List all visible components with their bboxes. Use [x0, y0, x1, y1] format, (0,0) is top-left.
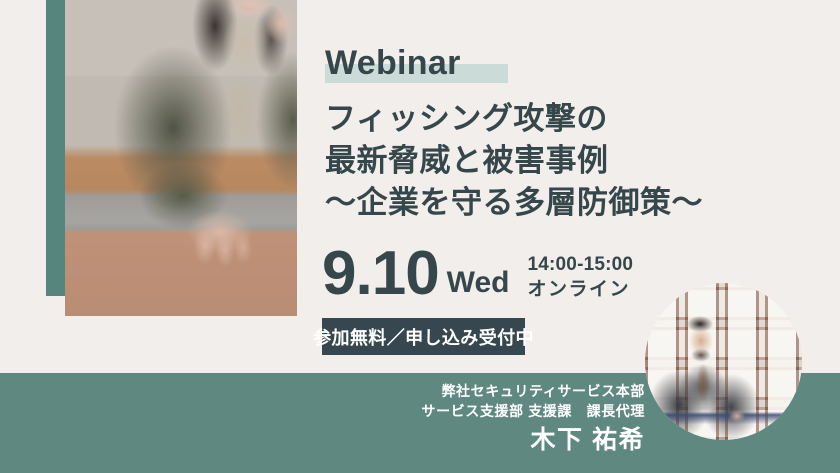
registration-badge-label: 参加無料／申し込み受付中	[313, 324, 534, 350]
schedule-row: 9.10 Wed 14:00-15:00 オンライン	[322, 243, 633, 305]
registration-badge[interactable]: 参加無料／申し込み受付中	[322, 318, 525, 355]
speaker-avatar-photo	[645, 283, 802, 440]
event-venue: オンライン	[527, 277, 633, 303]
event-date: 9.10	[322, 243, 439, 305]
hero-photo	[65, 0, 297, 316]
speaker-org-line-2: サービス支援部 支援課 課長代理	[315, 401, 645, 421]
headline-line-3: ～企業を守る多層防御策～	[325, 182, 745, 224]
headline-line-1: フィッシング攻撃の	[325, 98, 745, 140]
speaker-avatar	[645, 283, 802, 440]
hero-photo-accent-bar	[46, 0, 66, 296]
event-detail: 14:00-15:00 オンライン	[527, 252, 633, 305]
speaker-name: 木下 祐希	[315, 423, 645, 457]
webinar-label: Webinar	[325, 42, 461, 84]
event-time: 14:00-15:00	[527, 252, 633, 277]
hero-photo-frame	[65, 0, 297, 316]
speaker-info: 弊社セキュリティサービス本部 サービス支援部 支援課 課長代理 木下 祐希	[315, 381, 645, 457]
webinar-banner: Webinar フィッシング攻撃の 最新脅威と被害事例 ～企業を守る多層防御策～…	[0, 0, 840, 473]
speaker-org-line-1: 弊社セキュリティサービス本部	[315, 381, 645, 401]
headline: フィッシング攻撃の 最新脅威と被害事例 ～企業を守る多層防御策～	[325, 98, 745, 224]
event-weekday: Wed	[447, 261, 510, 305]
webinar-eyebrow: Webinar	[325, 42, 461, 84]
headline-line-2: 最新脅威と被害事例	[325, 140, 745, 182]
